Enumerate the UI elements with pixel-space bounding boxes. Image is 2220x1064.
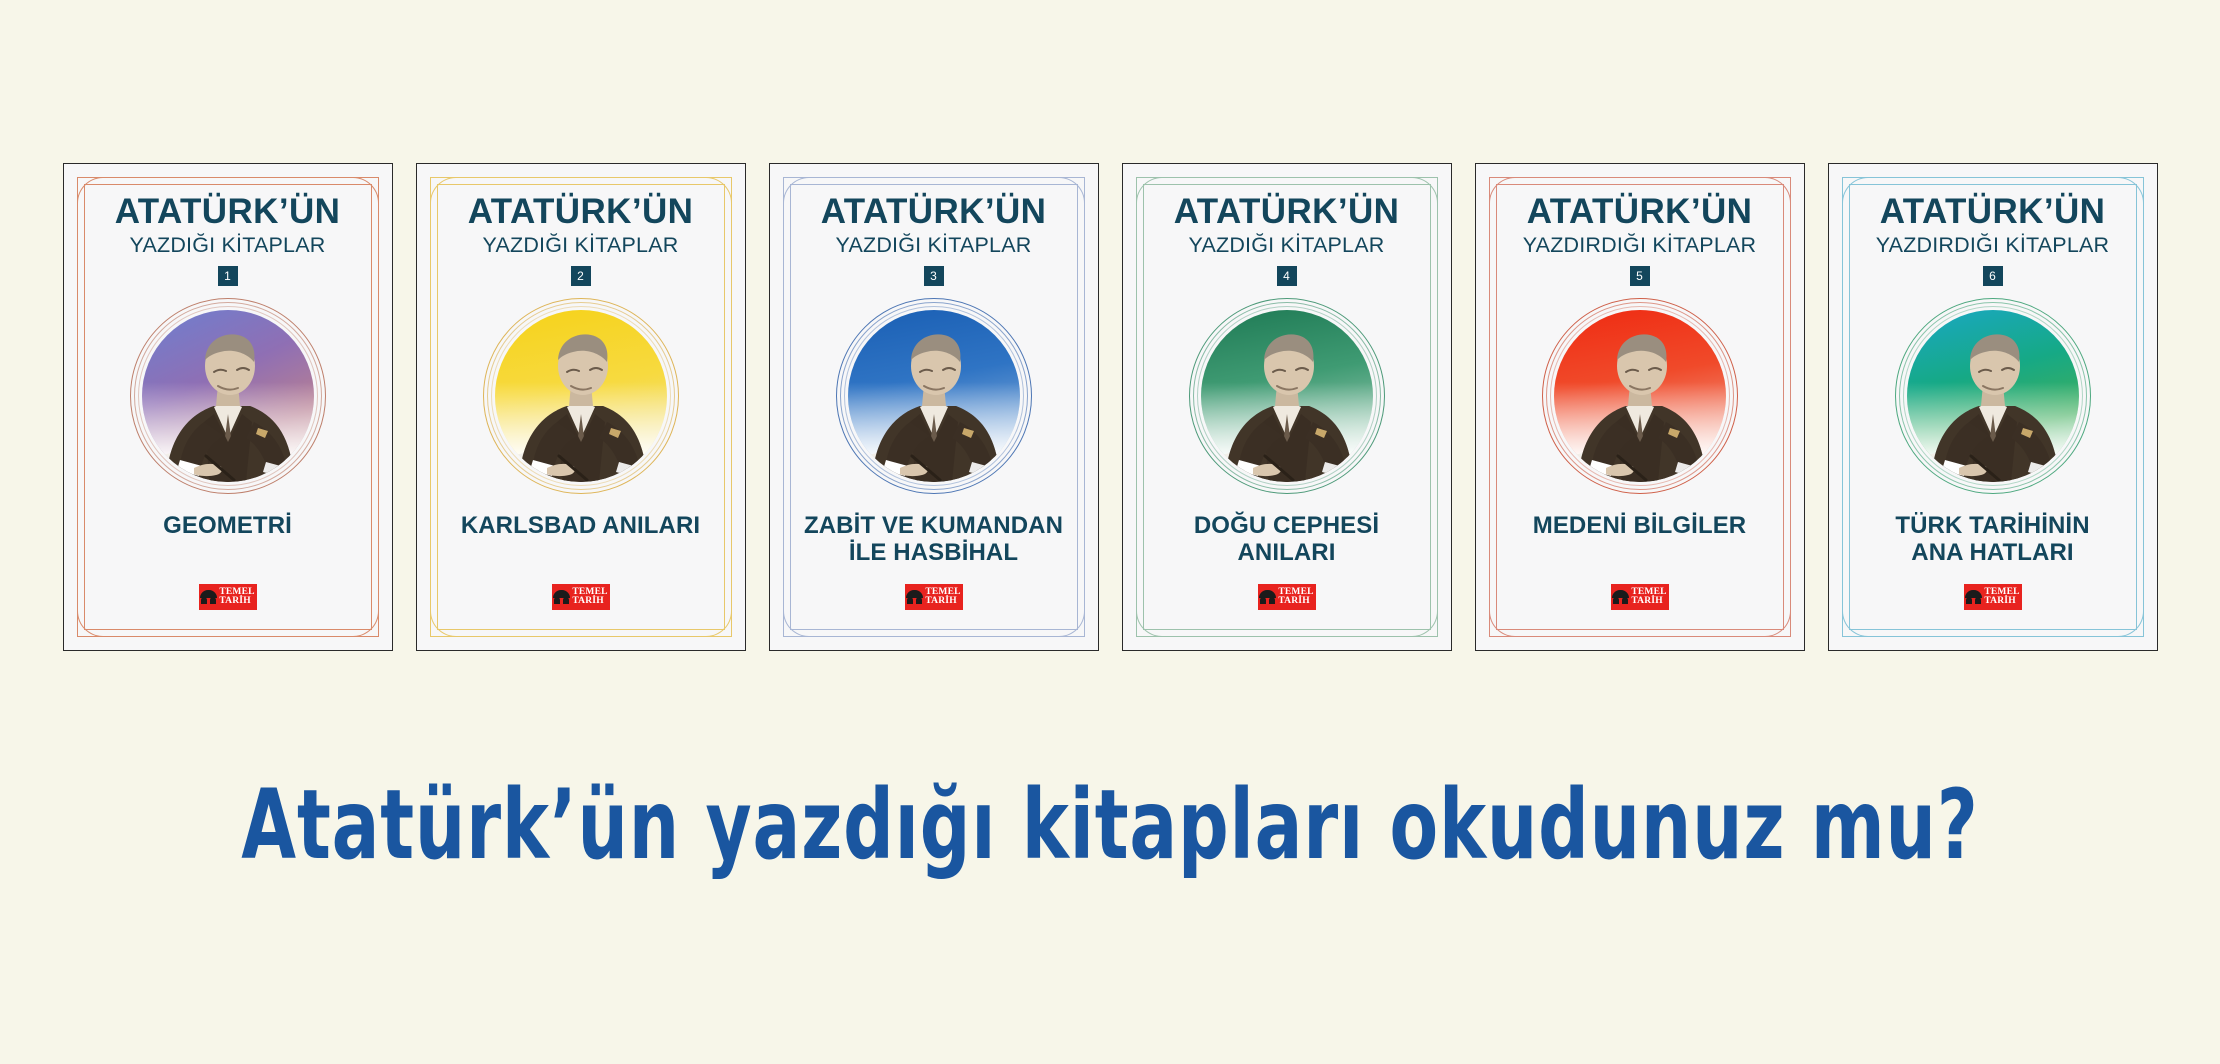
book-cover-1[interactable]: ATATÜRK’ÜN YAZDIĞI KİTAPLAR 1 (63, 163, 393, 651)
temel-tarih-logo: TEMEL TARİH (905, 584, 963, 610)
book-title: GEOMETRİ (159, 512, 296, 540)
book-title: KARLSBAD ANILARI (457, 512, 704, 540)
book-cover-content: ATATÜRK’ÜN YAZDIRDIĞI KİTAPLAR 6 (1829, 164, 2157, 650)
dome-building-icon (1965, 590, 1982, 604)
series-title-primary: ATATÜRK’ÜN (115, 194, 341, 229)
publisher-wordmark: TEMEL TARİH (1278, 588, 1313, 607)
series-title-secondary: YAZDIRDIĞI KİTAPLAR (1876, 235, 2110, 257)
series-title-primary: ATATÜRK’ÜN (1174, 194, 1400, 229)
book-cover-4[interactable]: ATATÜRK’ÜN YAZDIĞI KİTAPLAR 4 (1122, 163, 1452, 651)
publisher-line-2: TARİH (219, 597, 254, 607)
volume-number-badge: 1 (218, 266, 238, 286)
ataturk-writing-portrait-icon (1907, 310, 2079, 482)
headline-question: Atatürk’ün yazdığı kitapları okudunuz mu… (200, 775, 2020, 876)
book-title: MEDENİ BİLGİLER (1529, 512, 1751, 540)
temel-tarih-logo: TEMEL TARİH (1611, 584, 1669, 610)
publisher-wordmark: TEMEL TARİH (572, 588, 607, 607)
ataturk-writing-portrait-icon (495, 310, 667, 482)
dome-building-icon (1612, 590, 1629, 604)
volume-number-badge: 6 (1983, 266, 2003, 286)
portrait-medallion (1542, 298, 1738, 494)
temel-tarih-logo: TEMEL TARİH (1258, 584, 1316, 610)
publisher-line-2: TARİH (1631, 597, 1666, 607)
series-title-secondary: YAZDIĞI KİTAPLAR (130, 235, 326, 257)
book-cover-row: ATATÜRK’ÜN YAZDIĞI KİTAPLAR 1 (0, 163, 2220, 658)
volume-number-badge: 5 (1630, 266, 1650, 286)
volume-number-badge: 3 (924, 266, 944, 286)
series-title-primary: ATATÜRK’ÜN (821, 194, 1047, 229)
publisher-wordmark: TEMEL TARİH (1984, 588, 2019, 607)
book-title: TÜRK TARİHİNİN ANA HATLARI (1891, 512, 2093, 568)
volume-number-badge: 2 (571, 266, 591, 286)
ataturk-writing-portrait-icon (142, 310, 314, 482)
publisher-wordmark: TEMEL TARİH (219, 588, 254, 607)
series-title-primary: ATATÜRK’ÜN (1880, 194, 2106, 229)
temel-tarih-logo: TEMEL TARİH (1964, 584, 2022, 610)
book-title: DOĞU CEPHESİ ANILARI (1190, 512, 1383, 568)
book-title: ZABİT VE KUMANDAN İLE HASBİHAL (800, 512, 1067, 568)
publisher-line-2: TARİH (572, 597, 607, 607)
poster-canvas: ATATÜRK’ÜN YAZDIĞI KİTAPLAR 1 (0, 0, 2220, 1064)
book-cover-3[interactable]: ATATÜRK’ÜN YAZDIĞI KİTAPLAR 3 (769, 163, 1099, 651)
book-cover-6[interactable]: ATATÜRK’ÜN YAZDIRDIĞI KİTAPLAR 6 (1828, 163, 2158, 651)
book-cover-content: ATATÜRK’ÜN YAZDIĞI KİTAPLAR 4 (1123, 164, 1451, 650)
dome-building-icon (1259, 590, 1276, 604)
temel-tarih-logo: TEMEL TARİH (552, 584, 610, 610)
book-cover-content: ATATÜRK’ÜN YAZDIĞI KİTAPLAR 1 (64, 164, 392, 650)
dome-building-icon (906, 590, 923, 604)
portrait-medallion (1895, 298, 2091, 494)
series-title-secondary: YAZDIĞI KİTAPLAR (836, 235, 1032, 257)
portrait-medallion (1189, 298, 1385, 494)
publisher-wordmark: TEMEL TARİH (1631, 588, 1666, 607)
volume-number-badge: 4 (1277, 266, 1297, 286)
ataturk-writing-portrait-icon (1554, 310, 1726, 482)
book-cover-content: ATATÜRK’ÜN YAZDIĞI KİTAPLAR 3 (770, 164, 1098, 650)
series-title-primary: ATATÜRK’ÜN (468, 194, 694, 229)
book-cover-5[interactable]: ATATÜRK’ÜN YAZDIRDIĞI KİTAPLAR 5 (1475, 163, 1805, 651)
portrait-medallion (836, 298, 1032, 494)
book-cover-content: ATATÜRK’ÜN YAZDIRDIĞI KİTAPLAR 5 (1476, 164, 1804, 650)
publisher-wordmark: TEMEL TARİH (925, 588, 960, 607)
publisher-line-2: TARİH (1278, 597, 1313, 607)
ataturk-writing-portrait-icon (1201, 310, 1373, 482)
temel-tarih-logo: TEMEL TARİH (199, 584, 257, 610)
ataturk-writing-portrait-icon (848, 310, 1020, 482)
portrait-medallion (130, 298, 326, 494)
series-title-secondary: YAZDIĞI KİTAPLAR (483, 235, 679, 257)
series-title-secondary: YAZDIĞI KİTAPLAR (1189, 235, 1385, 257)
publisher-line-2: TARİH (925, 597, 960, 607)
series-title-primary: ATATÜRK’ÜN (1527, 194, 1753, 229)
book-cover-2[interactable]: ATATÜRK’ÜN YAZDIĞI KİTAPLAR 2 (416, 163, 746, 651)
dome-building-icon (553, 590, 570, 604)
publisher-line-2: TARİH (1984, 597, 2019, 607)
dome-building-icon (200, 590, 217, 604)
book-cover-content: ATATÜRK’ÜN YAZDIĞI KİTAPLAR 2 (417, 164, 745, 650)
portrait-medallion (483, 298, 679, 494)
series-title-secondary: YAZDIRDIĞI KİTAPLAR (1523, 235, 1757, 257)
